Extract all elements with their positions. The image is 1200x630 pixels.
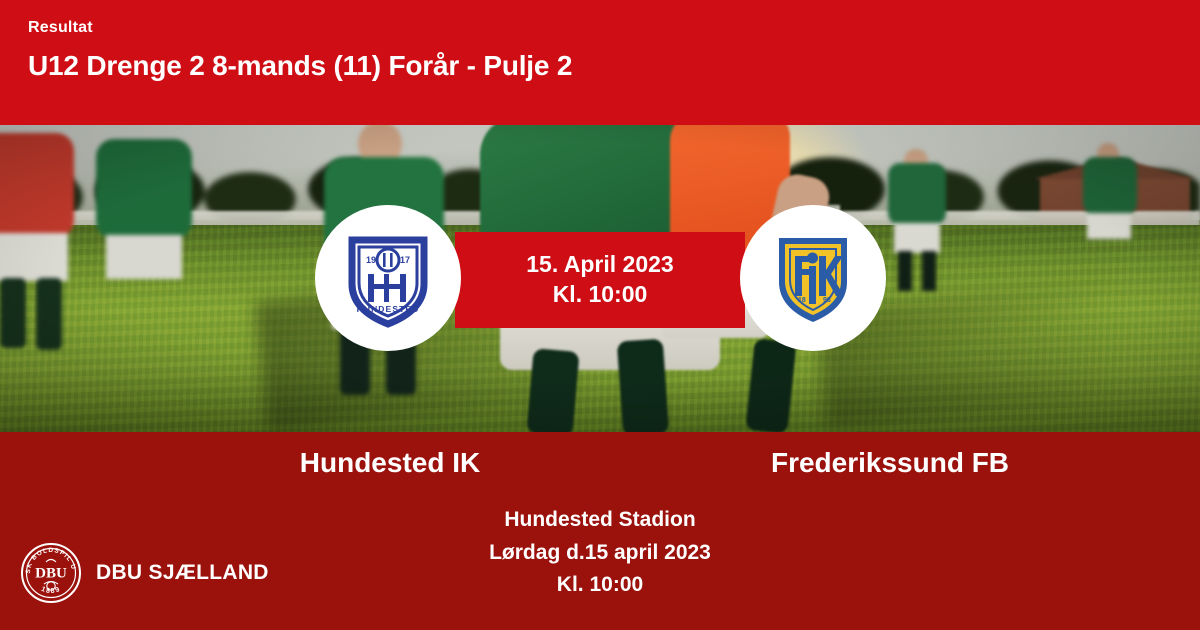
match-time: Kl. 10:00	[553, 281, 648, 309]
tournament-title: U12 Drenge 2 8-mands (11) Forår - Pulje …	[28, 51, 1200, 82]
svg-text:17: 17	[400, 255, 410, 265]
hundested-shield-icon: 19 17 HUNDESTED	[332, 222, 444, 334]
away-team-name: Frederikssund FB	[640, 446, 1140, 480]
home-team-name: Hundested IK	[140, 446, 640, 480]
dbu-emblem-icon: DANSK BOLDSPIL UNION 1889 DBU	[20, 542, 82, 604]
away-team-crest: 18 98	[740, 205, 886, 351]
team-names-row: Hundested IK Frederikssund FB	[0, 446, 1200, 480]
svg-text:19: 19	[366, 255, 376, 265]
header-banner: Resultat U12 Drenge 2 8-mands (11) Forår…	[0, 0, 1200, 125]
dbu-wordmark: DBU SJÆLLAND	[96, 561, 269, 585]
svg-text:DBU: DBU	[35, 566, 67, 582]
kickoff-band: 15. April 2023 Kl. 10:00	[455, 232, 745, 328]
svg-text:HUNDESTED: HUNDESTED	[357, 304, 420, 314]
venue-stadium: Hundested Stadion	[0, 504, 1200, 537]
svg-text:18: 18	[798, 297, 806, 304]
result-kicker: Resultat	[28, 20, 1200, 36]
dbu-brand: DANSK BOLDSPIL UNION 1889 DBU DBU SJÆLLA…	[20, 538, 290, 608]
frederikssund-shield-icon: 18 98	[757, 222, 869, 334]
svg-text:98: 98	[823, 297, 831, 304]
match-date: 15. April 2023	[526, 251, 673, 279]
match-result-card: Resultat U12 Drenge 2 8-mands (11) Forår…	[0, 0, 1200, 630]
home-team-crest: 19 17 HUNDESTED	[315, 205, 461, 351]
